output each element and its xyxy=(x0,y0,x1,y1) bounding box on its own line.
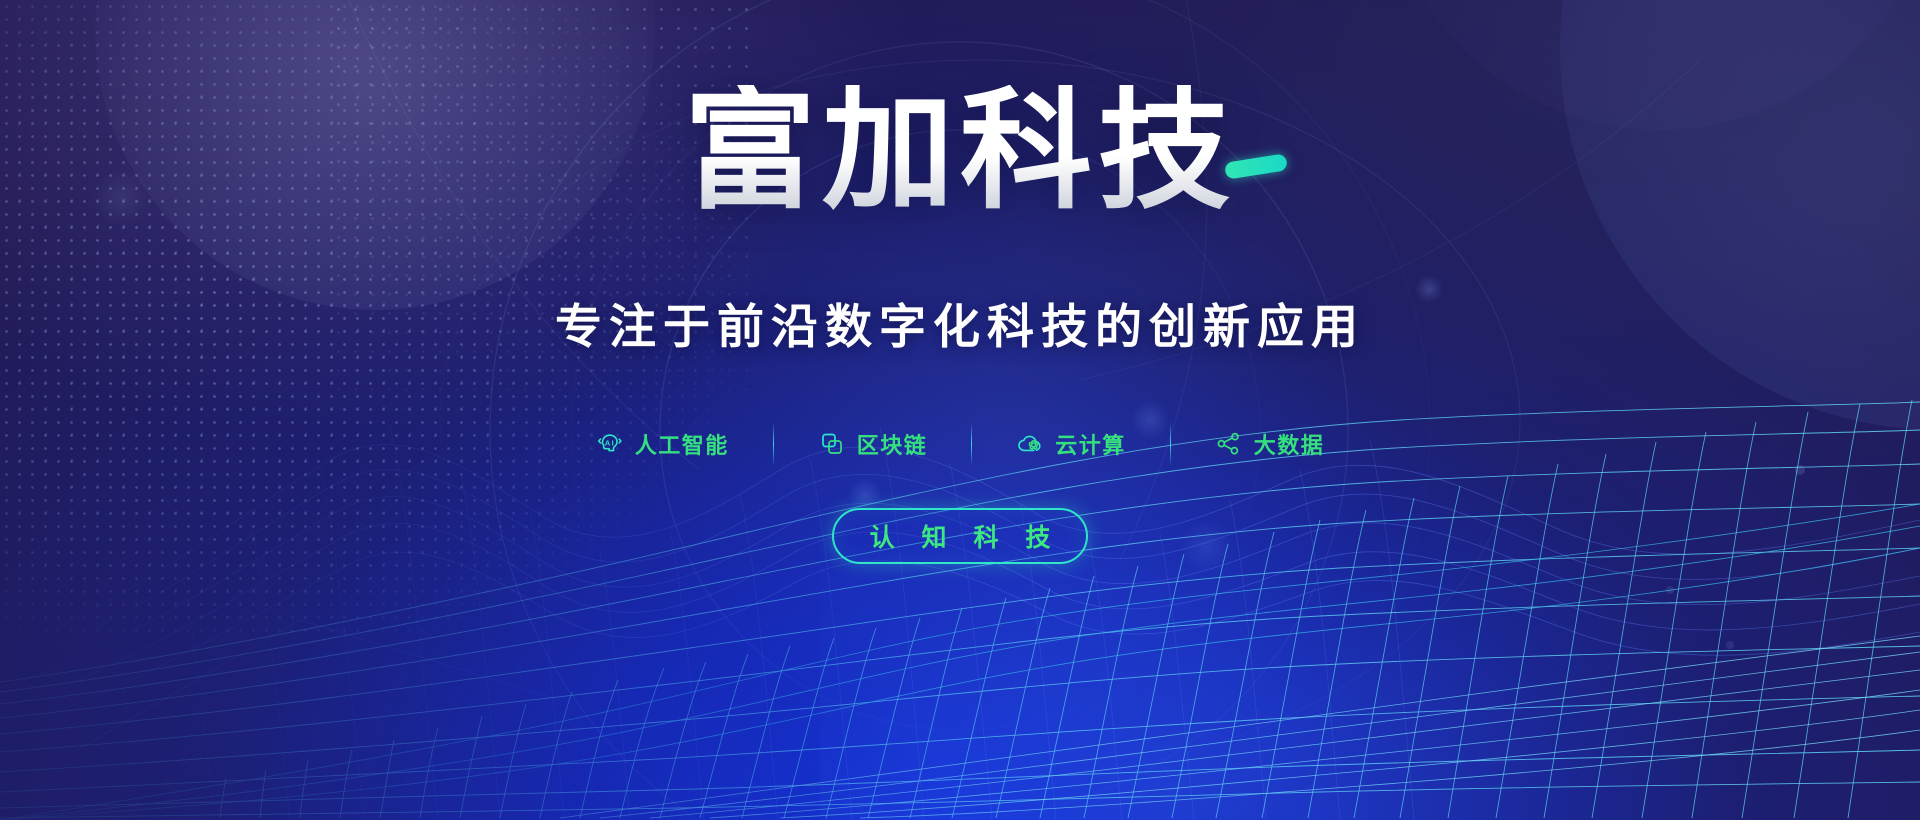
hero-banner: 富加科技 专注于前沿数字化科技的创新应用 AI 人工智能 xyxy=(0,0,1920,820)
feature-item-ai[interactable]: AI 人工智能 xyxy=(552,428,773,460)
page-title: 富加科技 xyxy=(0,85,1920,217)
feature-label: 人工智能 xyxy=(635,428,729,460)
feature-label: 云计算 xyxy=(1055,428,1126,460)
svg-text:AI: AI xyxy=(604,438,615,447)
share-network-icon xyxy=(1215,430,1243,458)
blockchain-blocks-icon xyxy=(818,430,846,458)
feature-label: 大数据 xyxy=(1254,428,1325,460)
tagline: 专注于前沿数字化科技的创新应用 xyxy=(0,288,1920,357)
feature-item-bigdata[interactable]: 大数据 xyxy=(1171,428,1369,460)
feature-list: AI 人工智能 区块链 xyxy=(0,422,1920,466)
ai-head-icon: AI xyxy=(596,430,624,458)
cloud-gear-icon xyxy=(1016,430,1044,458)
feature-item-cloud[interactable]: 云计算 xyxy=(972,428,1170,460)
feature-item-blockchain[interactable]: 区块链 xyxy=(774,428,972,460)
feature-label: 区块链 xyxy=(857,428,928,460)
cta-button[interactable]: 认 知 科 技 xyxy=(832,508,1088,564)
hero-content: 富加科技 专注于前沿数字化科技的创新应用 AI 人工智能 xyxy=(0,0,1920,820)
